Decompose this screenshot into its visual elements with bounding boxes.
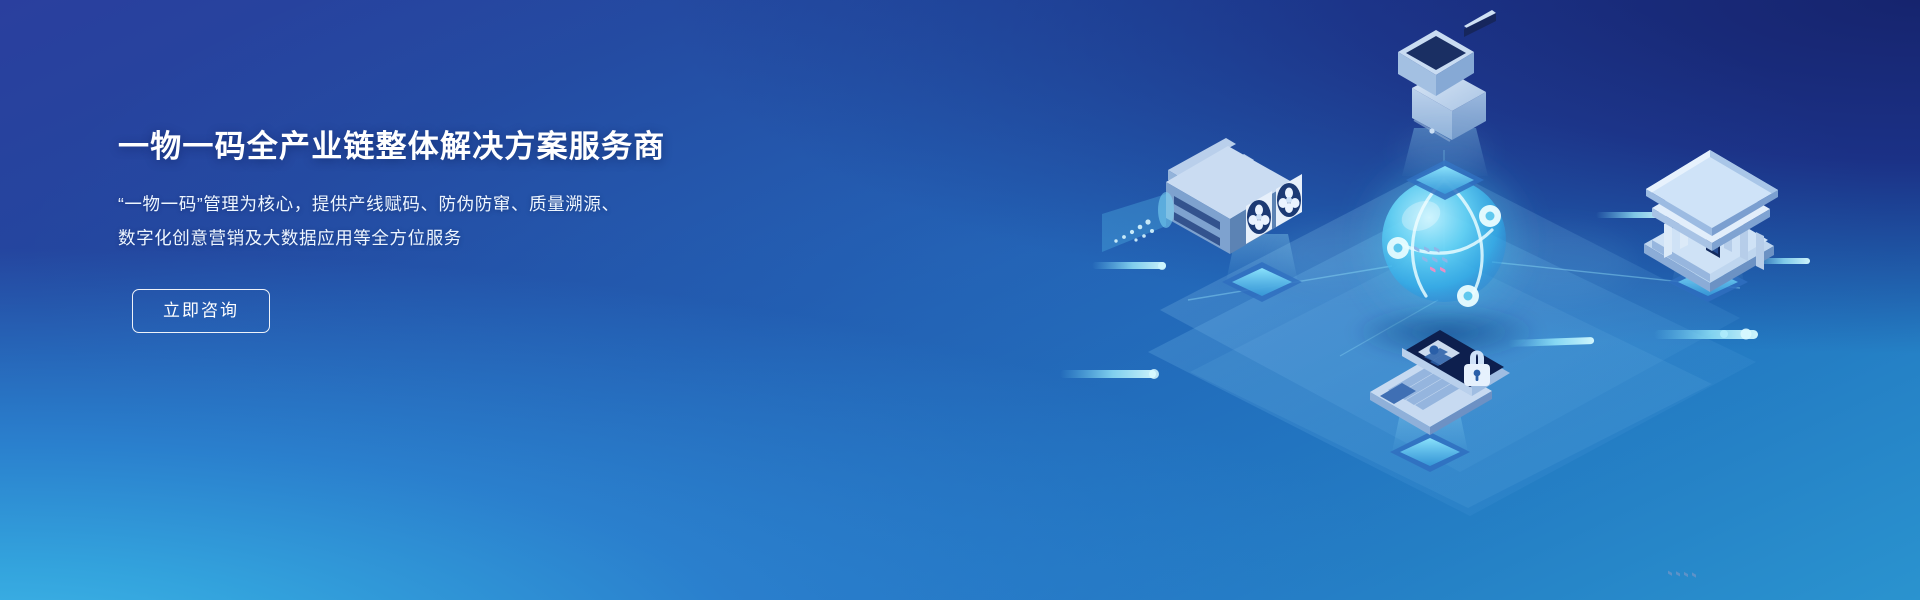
trail-left [1092, 262, 1166, 269]
subtitle-line-2: 数字化创意营销及大数据应用等全方位服务 [118, 221, 818, 255]
isometric-scene-svg [1040, 0, 1920, 600]
banner-subtitle: “一物一码”管理为核心，提供产线赋码、防伪防窜、质量溯源、 数字化创意营销及大数… [118, 187, 818, 255]
trail-left-2 [1060, 370, 1156, 378]
hero-banner: 一物一码全产业链整体解决方案服务商 “一物一码”管理为核心，提供产线赋码、防伪防… [0, 0, 1920, 600]
banner-copy-block: 一物一码全产业链整体解决方案服务商 “一物一码”管理为核心，提供产线赋码、防伪防… [118, 128, 818, 333]
page-title: 一物一码全产业链整体解决方案服务商 [118, 128, 818, 167]
isometric-illustration [1040, 0, 1920, 600]
data-stream-cone [1102, 192, 1174, 252]
consult-now-button[interactable]: 立即咨询 [132, 289, 270, 333]
server-fan-unit-icon [1102, 138, 1302, 302]
subtitle-line-1: “一物一码”管理为核心，提供产线赋码、防伪防窜、质量溯源、 [118, 187, 818, 221]
